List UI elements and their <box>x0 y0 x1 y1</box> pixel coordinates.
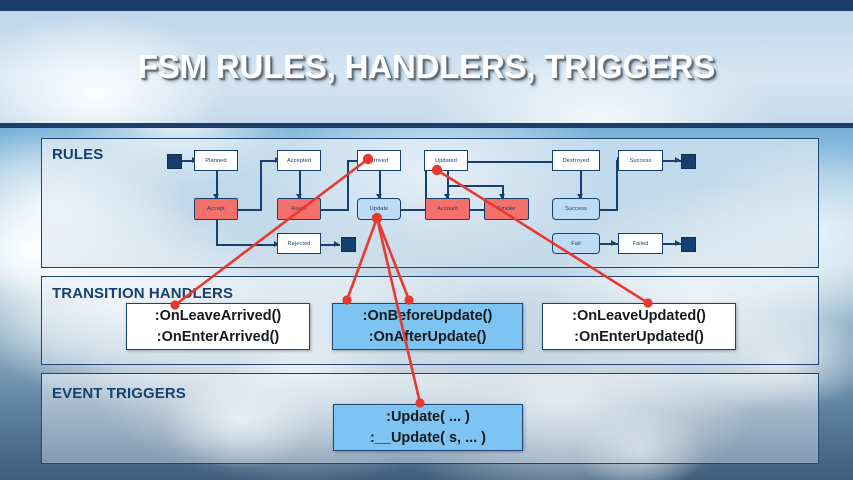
handler-box-updated[interactable]: :OnLeaveUpdated() :OnEnterUpdated() <box>542 303 736 350</box>
panel-handlers-title: TRANSITION HANDLERS <box>52 285 233 302</box>
fsm-node-end3 <box>681 237 696 252</box>
title-top-stripe <box>0 0 853 11</box>
fsm-node-success-action[interactable]: Success <box>552 198 600 220</box>
arrow-fail-failed <box>611 240 616 246</box>
handler-update-line-1: :OnBeforeUpdate() <box>363 306 493 327</box>
fsm-node-success-state[interactable]: Success <box>618 150 663 171</box>
edge-route-out <box>321 209 349 211</box>
fsm-node-fail[interactable]: Fail <box>552 233 600 254</box>
edge-update-out <box>401 209 427 211</box>
fsm-node-start1 <box>167 154 182 169</box>
fsm-node-planned[interactable]: Planned <box>194 150 238 171</box>
edge-updated-smoke-h <box>447 185 503 187</box>
fsm-node-end1 <box>681 154 696 169</box>
fsm-node-rejected[interactable]: Rejected <box>277 233 321 254</box>
fsm-node-account[interactable]: Account <box>425 198 470 220</box>
trigger-update-line-2: :__Update( s, ... ) <box>370 428 486 449</box>
arrow-failed-end <box>675 240 680 246</box>
edge-accept-out <box>238 209 262 211</box>
panel-triggers-title: EVENT TRIGGERS <box>52 385 186 402</box>
slide-canvas: FSM RULES, HANDLERS, TRIGGERS RULES <box>0 0 853 480</box>
page-title: FSM RULES, HANDLERS, TRIGGERS <box>0 48 853 86</box>
fsm-node-route[interactable]: Route <box>277 198 321 220</box>
trigger-box-update[interactable]: :Update( ... ) :__Update( s, ... ) <box>333 404 523 451</box>
fsm-node-updated[interactable]: Updated <box>424 150 468 171</box>
edge-accept-up <box>260 161 262 210</box>
arrow-rejected-end <box>334 241 339 247</box>
handler-update-line-2: :OnAfterUpdate() <box>369 327 487 348</box>
fsm-node-failed[interactable]: Failed <box>618 233 663 254</box>
handler-updated-line-1: :OnLeaveUpdated() <box>572 306 706 327</box>
edge-updated-destroyed <box>468 161 560 163</box>
trigger-update-line-1: :Update( ... ) <box>386 407 470 428</box>
fsm-node-accept[interactable]: Accept <box>194 198 238 220</box>
fsm-node-accepted[interactable]: Accepted <box>277 150 321 171</box>
fsm-node-smoke[interactable]: Smoke <box>484 198 529 220</box>
fsm-node-update[interactable]: Update <box>357 198 401 220</box>
fsm-node-end2 <box>341 237 356 252</box>
handler-box-update[interactable]: :OnBeforeUpdate() :OnAfterUpdate() <box>332 303 523 350</box>
edge-accept-rejected-h <box>216 244 278 246</box>
handler-box-arrived[interactable]: :OnLeaveArrived() :OnEnterArrived() <box>126 303 310 350</box>
fsm-node-destroyed[interactable]: Destroyed <box>552 150 600 171</box>
handler-arrived-line-1: :OnLeaveArrived() <box>155 306 282 327</box>
edge-route-up <box>347 161 349 210</box>
edge-accept-rejected-v <box>216 220 218 245</box>
edge-account-smoke <box>470 209 484 211</box>
panel-rules-title: RULES <box>52 146 103 163</box>
handler-arrived-line-2: :OnEnterArrived() <box>157 327 279 348</box>
handler-updated-line-2: :OnEnterUpdated() <box>574 327 704 348</box>
fsm-node-arrived[interactable]: Arrived <box>357 150 401 171</box>
arrow-successs-end <box>675 157 680 163</box>
title-bottom-stripe <box>0 123 853 128</box>
